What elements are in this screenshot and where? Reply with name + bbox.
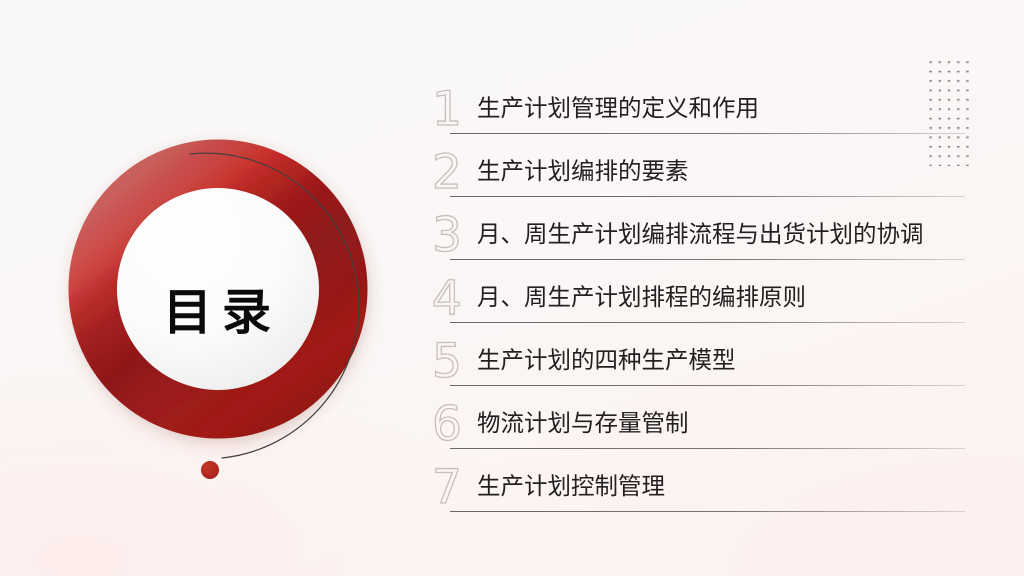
toc-item-title: 生产计划编排的要素 [477, 154, 689, 188]
toc-item-title: 生产计划控制管理 [477, 469, 665, 503]
toc-item-number: 5 [432, 336, 476, 388]
emblem-graphic [40, 110, 440, 510]
toc-item-rule [450, 196, 965, 197]
toc-item-number: 6 [432, 399, 476, 451]
toc-item[interactable]: 7 生产计划控制管理 [430, 460, 975, 522]
toc-item-title: 生产计划的四种生产模型 [477, 343, 736, 377]
toc-item-title: 月、周生产计划编排流程与出货计划的协调 [477, 217, 924, 251]
toc-item-number: 1 [432, 84, 476, 136]
toc-item-number: 3 [432, 210, 476, 262]
toc-item-title: 生产计划管理的定义和作用 [477, 91, 759, 125]
toc-item-rule [450, 133, 965, 134]
toc-item[interactable]: 1 生产计划管理的定义和作用 [430, 82, 975, 144]
toc-item-number: 2 [432, 147, 476, 199]
toc-item-title: 月、周生产计划排程的编排原则 [477, 280, 806, 314]
toc-item[interactable]: 2 生产计划编排的要素 [430, 145, 975, 207]
toc-item[interactable]: 5 生产计划的四种生产模型 [430, 334, 975, 396]
toc-item-rule [450, 511, 965, 512]
slide-canvas: 目录 1 生产计划管理的定义和作用 2 生产计划编排的要素 3 月、周生产计划编… [0, 0, 1024, 576]
toc-list: 1 生产计划管理的定义和作用 2 生产计划编排的要素 3 月、周生产计划编排流程… [430, 82, 975, 522]
toc-item-number: 4 [432, 273, 476, 325]
toc-item-rule [450, 448, 965, 449]
toc-item[interactable]: 3 月、周生产计划编排流程与出货计划的协调 [430, 208, 975, 270]
toc-item-number: 7 [432, 462, 476, 514]
toc-item-rule [450, 385, 965, 386]
emblem-dot [201, 461, 219, 479]
toc-item[interactable]: 6 物流计划与存量管制 [430, 397, 975, 459]
toc-item-rule [450, 259, 965, 260]
toc-item-rule [450, 322, 965, 323]
toc-item[interactable]: 4 月、周生产计划排程的编排原则 [430, 271, 975, 333]
toc-emblem: 目录 [40, 110, 440, 510]
toc-item-title: 物流计划与存量管制 [477, 406, 689, 440]
